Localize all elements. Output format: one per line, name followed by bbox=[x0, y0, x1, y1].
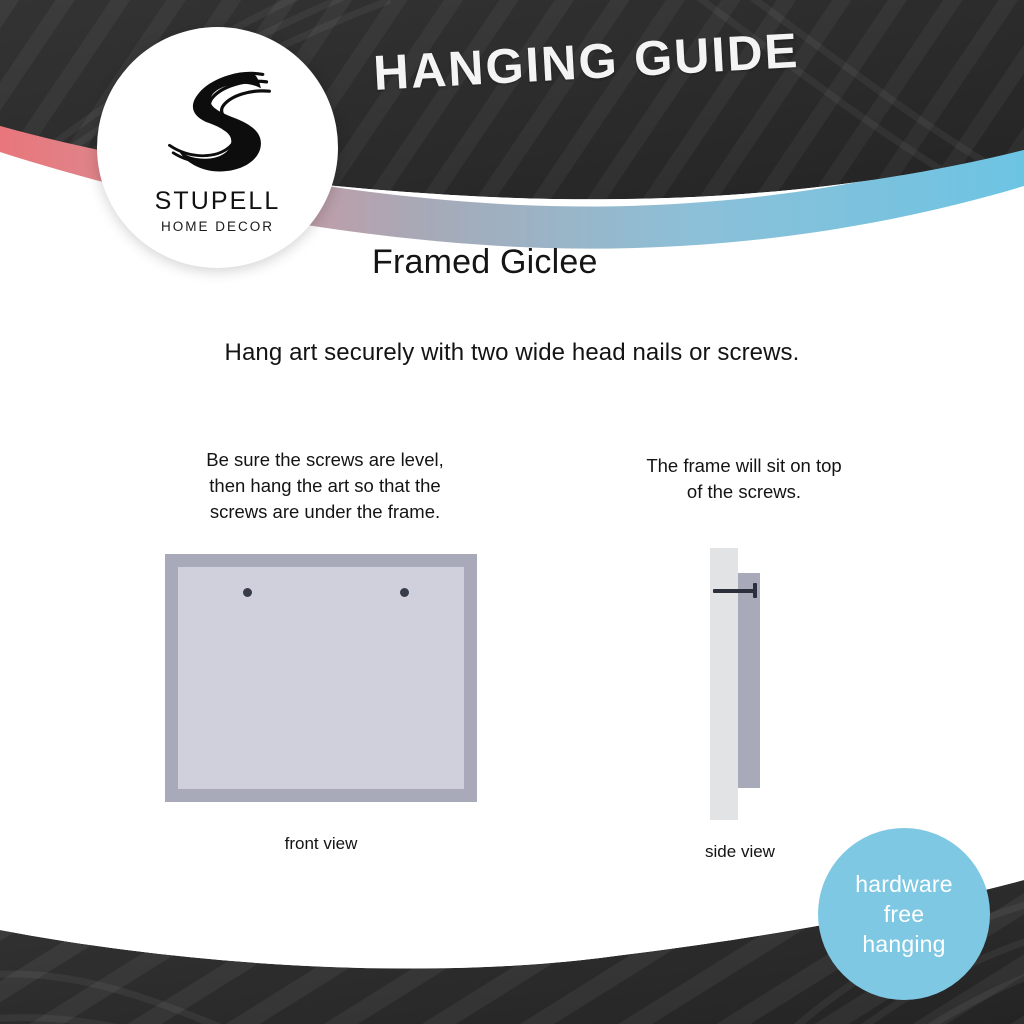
page-title: HANGING GUIDE bbox=[372, 23, 801, 102]
badge-line-1: hardware bbox=[855, 869, 953, 899]
hanging-guide-page: STUPELL HOME DECOR HANGING GUIDE Framed … bbox=[0, 0, 1024, 1024]
badge-line-2: free bbox=[884, 899, 924, 929]
front-caption-line-1: Be sure the screws are level, bbox=[160, 447, 490, 473]
product-type-heading: Framed Giclee bbox=[372, 243, 598, 282]
front-caption-line-3: screws are under the frame. bbox=[160, 499, 490, 525]
side-caption-line-1: The frame will sit on top bbox=[590, 453, 898, 479]
screw-hole-right-icon bbox=[400, 588, 409, 597]
screw-hole-left-icon bbox=[243, 588, 252, 597]
front-view-frame-diagram bbox=[165, 554, 477, 802]
screw-head-icon bbox=[753, 583, 757, 598]
front-view-caption: Be sure the screws are level, then hang … bbox=[160, 447, 490, 525]
side-view-label: side view bbox=[660, 842, 820, 862]
screw-shaft-icon bbox=[713, 589, 756, 593]
front-view-label: front view bbox=[165, 834, 477, 854]
brand-name: STUPELL bbox=[155, 187, 281, 216]
front-caption-line-2: then hang the art so that the bbox=[160, 473, 490, 499]
badge-line-3: hanging bbox=[862, 929, 945, 959]
brand-tagline: HOME DECOR bbox=[161, 219, 274, 234]
brand-logo-badge: STUPELL HOME DECOR bbox=[97, 27, 338, 268]
side-caption-line-2: of the screws. bbox=[590, 479, 898, 505]
front-view-frame-interior bbox=[178, 567, 464, 789]
side-view-diagram bbox=[700, 546, 780, 824]
side-view-frame bbox=[738, 573, 760, 788]
lead-instruction: Hang art securely with two wide head nai… bbox=[0, 339, 1024, 367]
side-view-caption: The frame will sit on top of the screws. bbox=[590, 453, 898, 505]
hardware-free-hanging-badge: hardware free hanging bbox=[818, 828, 990, 1000]
stupell-swoosh-logo-icon bbox=[162, 63, 274, 181]
